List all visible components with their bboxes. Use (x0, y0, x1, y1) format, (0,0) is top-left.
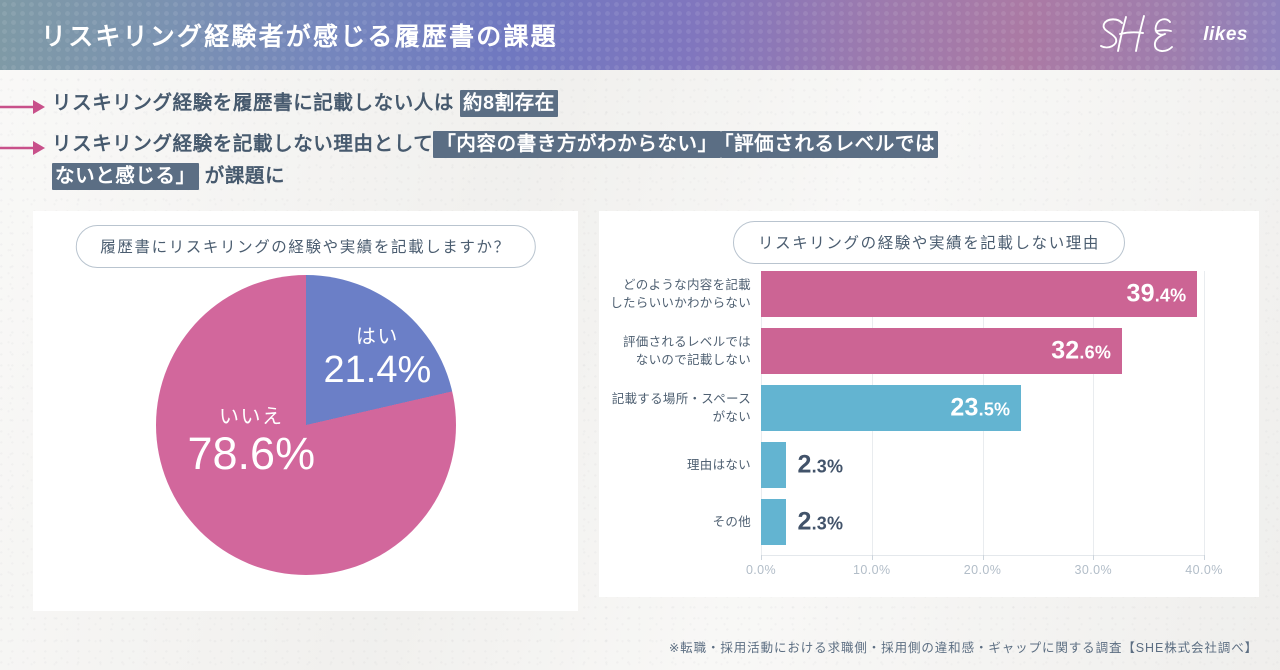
bar-chart-tick-label: 0.0% (746, 563, 776, 577)
pie-slice-name-no: いいえ (188, 407, 316, 427)
bar-segment: 32.6% (761, 328, 1122, 374)
key-finding-2-text: リスキリング経験を記載しない理由として「内容の書き方がわからない」「評価されるレ… (52, 128, 938, 192)
bar-value-label: 23.5% (950, 394, 1010, 423)
bar-value-label: 2.3% (797, 451, 843, 480)
bar-chart-plot: どのような内容を記載したらいいかわからない39.4%評価されるレベルではないので… (761, 271, 1204, 555)
bar-chart-row: 評価されるレベルではないので記載しない32.6% (761, 328, 1204, 374)
source-footnote: ※転職・採用活動における求職側・採用側の違和感・ギャップに関する調査【SHE株式… (669, 637, 1258, 656)
brand-logo: likes (1092, 12, 1248, 58)
bar-chart-tick-label: 20.0% (964, 563, 1001, 577)
page-header: リスキリング経験者が感じる履歴書の課題 likes (0, 0, 1280, 70)
she-script-logo-icon (1092, 12, 1196, 58)
bar-chart-tick-mark (1204, 555, 1205, 560)
bar-value-label: 2.3% (797, 508, 843, 537)
bar-category-label: 評価されるレベルではないので記載しない (623, 333, 751, 369)
pie-chart-card: 履歴書にリスキリングの経験や実績を記載しますか？ はい 21.4% いいえ 78… (33, 211, 578, 611)
bar-value-decimal: .3% (812, 457, 844, 477)
bar-category-label: どのような内容を記載したらいいかわからない (610, 276, 751, 312)
finding-2-highlight-b: 「評価されるレベルでは (721, 131, 938, 158)
key-finding-1: リスキリング経験を履歴書に記載しない人は 約8割存在 (0, 87, 1280, 122)
key-finding-1-text: リスキリング経験を履歴書に記載しない人は 約8割存在 (52, 87, 558, 119)
bar-chart-gridline (1204, 271, 1205, 555)
bar-chart-tick-label: 40.0% (1185, 563, 1222, 577)
page-title: リスキリング経験者が感じる履歴書の課題 (41, 17, 558, 53)
bar-category-label: 理由はない (687, 456, 751, 474)
brand-suffix: likes (1203, 24, 1248, 46)
finding-1-plain: リスキリング経験を履歴書に記載しない人は (52, 92, 460, 114)
finding-2-plain-tail: が課題に (199, 165, 285, 187)
charts-row: 履歴書にリスキリングの経験や実績を記載しますか？ はい 21.4% いいえ 78… (0, 198, 1280, 611)
bar-value-integer: 23 (950, 394, 978, 422)
bar-segment (761, 499, 786, 545)
bar-value-decimal: .3% (812, 514, 844, 534)
bar-value-label: 32.6% (1051, 337, 1111, 366)
pie-chart-area: はい 21.4% いいえ 78.6% (33, 275, 578, 575)
arrow-right-icon (0, 92, 52, 122)
finding-2-highlight-a: 「内容の書き方がわからない」 (433, 131, 720, 158)
pie-slice-label-no: いいえ 78.6% (188, 407, 316, 476)
bar-value-decimal: .4% (1155, 286, 1187, 306)
bar-category-label: その他 (713, 513, 751, 531)
finding-1-highlight: 約8割存在 (460, 90, 558, 117)
pie-slice-value-no: 78.6% (188, 431, 316, 476)
bar-chart-tick-mark (983, 555, 984, 560)
bar-chart-row: 理由はない2.3% (761, 442, 1204, 488)
bar-value-integer: 2 (797, 508, 811, 536)
bar-value-decimal: .6% (1079, 343, 1111, 363)
finding-2-highlight-c: ないと感じる」 (52, 163, 199, 190)
bar-segment: 39.4% (761, 271, 1197, 317)
bar-segment: 23.5% (761, 385, 1021, 431)
bar-chart-tick-label: 10.0% (853, 563, 890, 577)
bar-chart-row: 記載する場所・スペースがない23.5% (761, 385, 1204, 431)
bar-chart-tick-mark (761, 555, 762, 560)
bar-chart-tick-label: 30.0% (1075, 563, 1112, 577)
pie-slice-name-yes: はい (324, 327, 432, 347)
key-finding-2: リスキリング経験を記載しない理由として「内容の書き方がわからない」「評価されるレ… (0, 128, 1280, 192)
bar-value-decimal: .5% (979, 400, 1011, 420)
bar-value-integer: 32 (1051, 337, 1079, 365)
finding-2-plain-lead: リスキリング経験を記載しない理由として (52, 133, 433, 155)
arrow-right-icon (0, 133, 52, 163)
bar-chart-area: どのような内容を記載したらいいかわからない39.4%評価されるレベルではないので… (599, 267, 1259, 597)
bar-chart-tick-mark (1093, 555, 1094, 560)
bar-chart-row: どのような内容を記載したらいいかわからない39.4% (761, 271, 1204, 317)
bar-value-integer: 2 (797, 451, 811, 479)
bar-chart-title-pill: リスキリングの経験や実績を記載しない理由 (733, 221, 1125, 264)
pie-chart-title: 履歴書にリスキリングの経験や実績を記載しますか？ (75, 225, 535, 268)
bar-chart-tick-mark (872, 555, 873, 560)
bar-chart-row: その他2.3% (761, 499, 1204, 545)
pie-slice-value-yes: 21.4% (324, 351, 432, 389)
bar-category-label: 記載する場所・スペースがない (612, 390, 751, 426)
pie-chart-title-pill: 履歴書にリスキリングの経験や実績を記載しますか？ (75, 225, 535, 268)
bar-chart-card: リスキリングの経験や実績を記載しない理由 どのような内容を記載したらいいかわから… (599, 211, 1259, 597)
key-findings-list: リスキリング経験を履歴書に記載しない人は 約8割存在 リスキリング経験を記載しな… (0, 87, 1280, 192)
bar-value-integer: 39 (1127, 280, 1155, 308)
pie-slice-label-yes: はい 21.4% (324, 327, 432, 389)
bar-chart-title: リスキリングの経験や実績を記載しない理由 (733, 221, 1125, 264)
pie-chart: はい 21.4% いいえ 78.6% (156, 275, 456, 575)
bar-value-label: 39.4% (1127, 280, 1187, 309)
bar-segment (761, 442, 786, 488)
